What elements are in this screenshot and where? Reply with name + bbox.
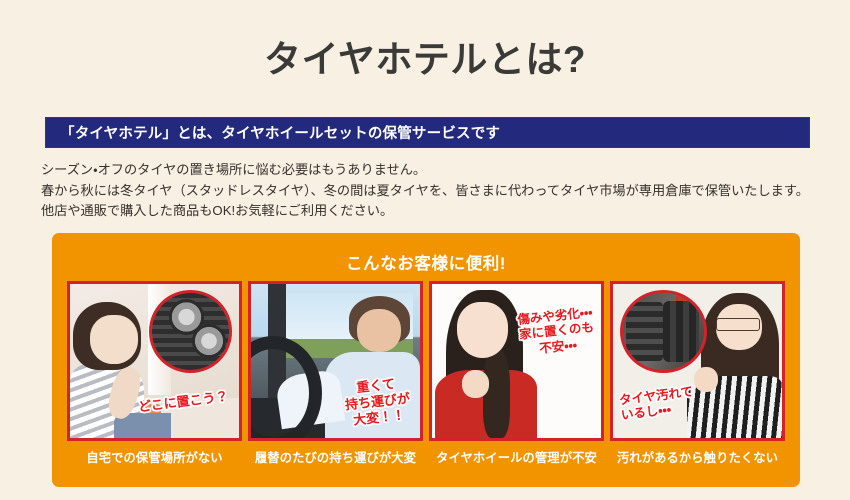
benefit-photo-home-storage: どこに置こう？ — [67, 281, 242, 441]
benefit-photo-carrying-tires: 重くて 持ち運びが 大変！！ — [248, 281, 423, 441]
page-root: タイヤホテルとは? 「タイヤホテル」とは、タイヤホイールセットの保管サービスです… — [0, 0, 850, 500]
benefit-card: どこに置こう？ 自宅での保管場所がない — [67, 281, 242, 466]
benefits-panel: こんなお客様に便利! — [52, 233, 800, 487]
tire-inset-circle — [620, 290, 707, 373]
person-face — [90, 315, 137, 364]
person-hand — [462, 370, 489, 398]
benefit-card: タイヤ汚れて いるし・・・ 汚れがあるから触りたくない — [610, 281, 785, 466]
photo-overlay-text: 傷みや劣化・・・ 家に置くのも 不安・・・ — [517, 305, 597, 358]
glasses-icon — [716, 318, 760, 331]
benefit-photo-tire-management: 傷みや劣化・・・ 家に置くのも 不安・・・ — [429, 281, 604, 441]
intro-line-1: シーズン・オフのタイヤの置き場所に悩む必要はもうありません。 — [41, 160, 831, 181]
benefit-card: 重くて 持ち運びが 大変！！ 履替のたびの持ち運びが大変 — [248, 281, 423, 466]
wheel-rim — [192, 324, 226, 358]
person-hair-strand — [483, 349, 510, 438]
person-hand — [694, 367, 718, 392]
benefit-caption: 自宅での保管場所がない — [67, 448, 242, 466]
benefit-caption: 履替のたびの持ち運びが大変 — [248, 448, 423, 466]
person-face — [457, 302, 508, 357]
photo-illustration — [70, 284, 239, 438]
large-tire — [663, 301, 699, 363]
benefit-card: 傷みや劣化・・・ 家に置くのも 不安・・・ タイヤホイールの管理が不安 — [429, 281, 604, 466]
intro-line-3: 他店や通販で購入した商品もOK!お気軽にご利用ください。 — [41, 201, 831, 222]
benefit-photo-dirty-tires: タイヤ汚れて いるし・・・ — [610, 281, 785, 441]
page-title: タイヤホテルとは? — [0, 37, 850, 83]
tire-inset-circle — [149, 290, 233, 373]
photo-overlay-text: 重くて 持ち運びが 大変！！ — [343, 375, 413, 429]
intro-line-2: 春から秋には冬タイヤ（スタッドレスタイヤ）、冬の間は夏タイヤを、皆さまに代わって… — [41, 181, 831, 202]
benefits-card-row: どこに置こう？ 自宅での保管場所がない — [67, 281, 785, 466]
service-definition-banner: 「タイヤホテル」とは、タイヤホイールセットの保管サービスです — [45, 117, 810, 148]
stacked-tires — [626, 302, 663, 361]
service-definition-banner-text: 「タイヤホテル」とは、タイヤホイールセットの保管サービスです — [46, 122, 500, 143]
benefit-caption: タイヤホイールの管理が不安 — [429, 448, 604, 466]
intro-paragraph: シーズン・オフのタイヤの置き場所に悩む必要はもうありません。 春から秋には冬タイ… — [41, 160, 831, 222]
benefit-caption: 汚れがあるから触りたくない — [610, 448, 785, 466]
person-face — [357, 309, 401, 352]
benefits-heading: こんなお客様に便利! — [52, 250, 800, 274]
